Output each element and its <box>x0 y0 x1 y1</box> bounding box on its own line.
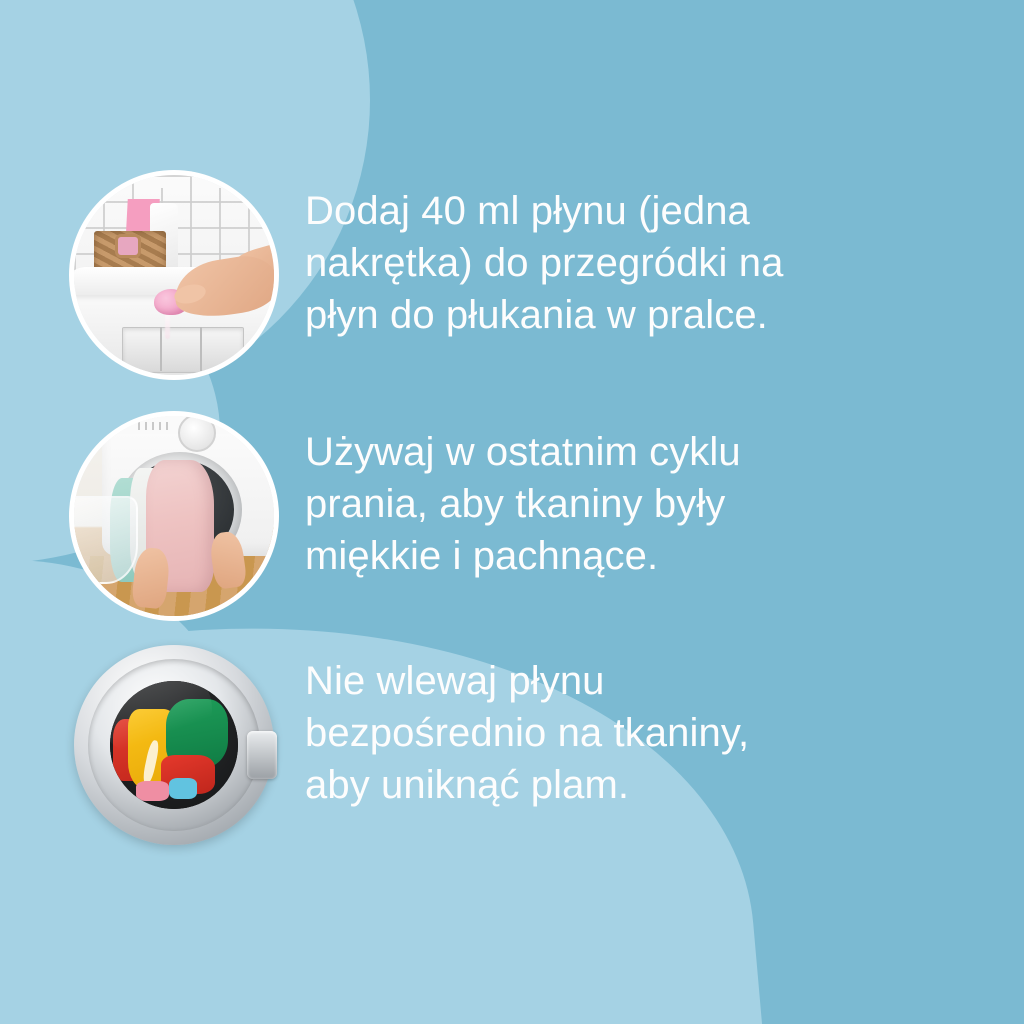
step-1-line-2: nakrętka) do przegródki na <box>305 237 783 289</box>
illustration-removing-towels <box>74 416 274 616</box>
step-1-line-1: Dodaj 40 ml płynu (jedna <box>305 185 783 237</box>
step-3-text: Nie wlewaj płynu bezpośrednio na tkaniny… <box>305 655 749 811</box>
step-1-thumbnail <box>74 175 274 375</box>
step-1-line-3: płyn do płukania w pralce. <box>305 289 783 341</box>
basket-handle-hole <box>118 237 138 255</box>
step-item-1: Dodaj 40 ml płynu (jedna nakrętka) do pr… <box>0 175 1024 375</box>
step-3-line-2: bezpośrednio na tkaniny, <box>305 707 749 759</box>
step-2-line-2: prania, aby tkaniny były <box>305 478 741 530</box>
step-2-text: Używaj w ostatnim cyklu prania, aby tkan… <box>305 426 741 582</box>
step-3-line-3: aby uniknąć plam. <box>305 759 749 811</box>
step-item-2: Używaj w ostatnim cyklu prania, aby tkan… <box>0 416 1024 616</box>
illustration-pouring-softener <box>74 175 274 375</box>
step-1-text: Dodaj 40 ml płynu (jedna nakrętka) do pr… <box>305 185 783 341</box>
drawer-divider <box>160 327 162 371</box>
laundry-basin <box>74 496 138 584</box>
step-3-thumbnail <box>74 645 274 845</box>
step-2-line-3: miękkie i pachnące. <box>305 530 741 582</box>
detergent-drawer <box>122 327 244 373</box>
step-item-3: Nie wlewaj płynu bezpośrednio na tkaniny… <box>0 645 1024 845</box>
door-latch <box>247 731 277 779</box>
step-3-line-1: Nie wlewaj płynu <box>305 655 749 707</box>
blue-garment <box>169 778 197 798</box>
door-glass-with-laundry <box>110 681 238 809</box>
instruction-infographic: Dodaj 40 ml płynu (jedna nakrętka) do pr… <box>0 0 1024 1024</box>
step-2-thumbnail <box>74 416 274 616</box>
panel-markings <box>138 422 170 430</box>
drawer-divider <box>200 327 202 371</box>
step-list: Dodaj 40 ml płynu (jedna nakrętka) do pr… <box>0 0 1024 1024</box>
pink-garment <box>136 781 169 801</box>
step-2-line-1: Używaj w ostatnim cyklu <box>305 426 741 478</box>
